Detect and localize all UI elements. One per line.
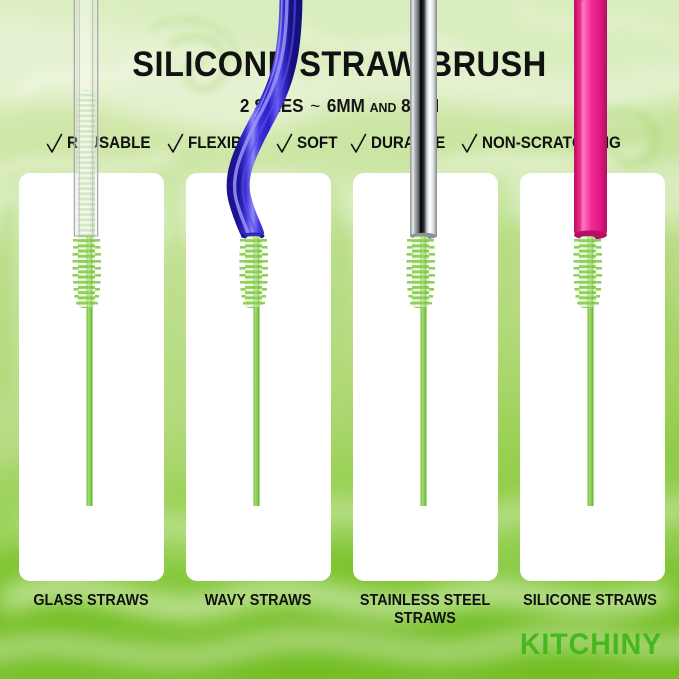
panel-label-silicone: SILICONE STRAWS <box>511 592 669 610</box>
panel-label-stainless: STAINLESS STEEL STRAWS <box>346 592 504 629</box>
infographic-canvas: SILICONE STRAW BRUSH 2 SIZES ~ 6MM AND 8… <box>0 0 679 679</box>
glass-straw-assembly <box>73 0 102 506</box>
stainless-steel-straw-assembly <box>407 0 438 506</box>
silicone-straw-assembly <box>574 0 608 506</box>
wavy-straw-assembly <box>235 0 295 506</box>
brand-logo: KITCHINY <box>509 628 672 662</box>
panel-label-glass: GLASS STRAWS <box>12 592 170 610</box>
product-artwork-layer <box>0 0 679 506</box>
panel-label-wavy: WAVY STRAWS <box>179 592 337 610</box>
